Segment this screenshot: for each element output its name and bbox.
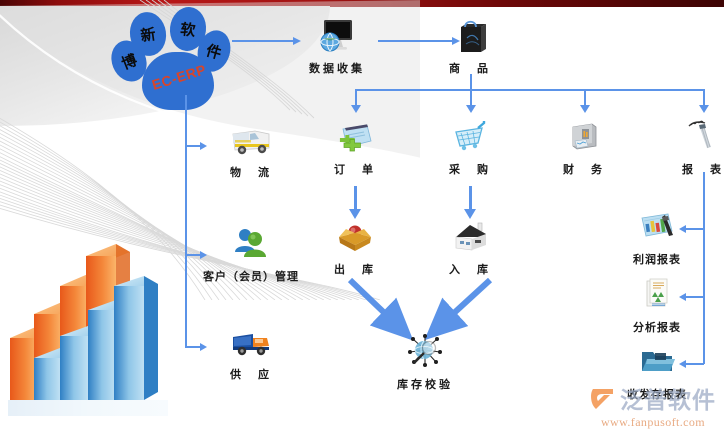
node-finance[interactable]: 财 务	[541, 115, 627, 177]
connector-order-to-outbound	[354, 186, 357, 211]
shopping-cart-icon	[448, 115, 492, 159]
connector-left-to-logistics	[185, 145, 201, 147]
node-report[interactable]: 报 表	[660, 115, 724, 177]
connector-bus-to-report	[703, 89, 705, 106]
connector-ecerp-left-bus	[185, 95, 187, 347]
connector-bus-to-purchase	[470, 89, 472, 106]
arrowhead-bus-to-finance	[580, 105, 590, 113]
node-outbound-label: 出 库	[312, 261, 398, 277]
node-goods-label: 商 品	[427, 60, 513, 76]
folder-report-icon	[635, 340, 679, 384]
paw-toe-3-label: 软	[179, 18, 196, 40]
connector-report-bus	[703, 172, 705, 364]
node-order-label: 订 单	[312, 161, 398, 177]
watermark-brand-row: 泛普软件	[590, 381, 716, 415]
arrowhead-bus-to-order	[351, 105, 361, 113]
shopping-bag-icon	[448, 14, 492, 58]
warehouse-house-icon	[448, 215, 492, 259]
open-box-icon	[333, 215, 377, 259]
node-finance-label: 财 务	[541, 161, 627, 177]
connector-left-to-supply	[185, 346, 201, 348]
analysis-paper-icon	[635, 273, 679, 317]
node-analysis-report-label: 分析报表	[592, 319, 722, 335]
node-logistics[interactable]: 物 流	[208, 118, 294, 180]
fanpu-logo-icon	[590, 386, 616, 410]
node-stock-check[interactable]: 库存校验	[382, 330, 468, 392]
node-data-collection-label: 数据收集	[294, 60, 380, 76]
connector-goods-bus	[355, 89, 705, 91]
dump-truck-icon	[229, 320, 273, 364]
arrowhead-bus-to-purchase	[466, 105, 476, 113]
decorative-bar-chart	[8, 230, 188, 420]
delivery-truck-icon	[229, 118, 273, 162]
diagram-canvas: 博 新 软 件 EC-ERP	[0, 0, 724, 438]
node-supply-label: 供 应	[208, 366, 294, 382]
order-document-icon	[333, 115, 377, 159]
node-stock-check-label: 库存校验	[382, 376, 468, 392]
node-outbound[interactable]: 出 库	[312, 215, 398, 277]
connector-purchase-to-inbound	[469, 186, 472, 211]
node-customer-mgmt-label: 客户（会员）管理	[186, 268, 316, 284]
top-red-band	[0, 0, 724, 7]
node-order[interactable]: 订 单	[312, 115, 398, 177]
node-supply[interactable]: 供 应	[208, 320, 294, 382]
inventory-globe-icon	[403, 330, 447, 374]
node-logistics-label: 物 流	[208, 164, 294, 180]
monitor-globe-icon	[315, 14, 359, 58]
safe-vault-icon	[562, 115, 606, 159]
connector-goods-down	[470, 74, 472, 90]
connector-bus-to-finance	[584, 89, 586, 106]
node-purchase[interactable]: 采 购	[427, 115, 513, 177]
node-profit-report-label: 利润报表	[592, 251, 722, 267]
node-report-label: 报 表	[660, 161, 724, 177]
watermark-brand-label: 泛普软件	[620, 381, 716, 415]
profit-chart-icon	[635, 205, 679, 249]
report-chart-icon	[681, 115, 724, 159]
node-analysis-report[interactable]: 分析报表	[592, 273, 722, 335]
watermark-url-label: www.fanpusoft.com	[590, 415, 716, 430]
paw-toe-2-label: 新	[139, 23, 157, 46]
arrowhead-bus-to-report	[699, 105, 709, 113]
connector-bus-to-order	[355, 89, 357, 106]
arrowhead-left-to-supply	[200, 343, 207, 351]
node-goods[interactable]: 商 品	[427, 14, 513, 76]
node-purchase-label: 采 购	[427, 161, 513, 177]
node-profit-report[interactable]: 利润报表	[592, 205, 722, 267]
node-inbound-label: 入 库	[427, 261, 513, 277]
node-data-collection[interactable]: 数据收集	[294, 14, 380, 76]
watermark: 泛普软件 www.fanpusoft.com	[590, 381, 716, 430]
paw-toe-1-label: 博	[118, 48, 140, 73]
arrowhead-left-to-logistics	[200, 142, 207, 150]
connector-ecerp-to-data	[232, 40, 294, 42]
node-customer-mgmt[interactable]: 客户（会员）管理	[186, 222, 316, 284]
node-inbound[interactable]: 入 库	[427, 215, 513, 277]
ec-erp-paw-logo[interactable]: 博 新 软 件 EC-ERP	[112, 6, 230, 112]
bar-chart-icon	[8, 230, 188, 420]
users-icon	[229, 222, 273, 266]
